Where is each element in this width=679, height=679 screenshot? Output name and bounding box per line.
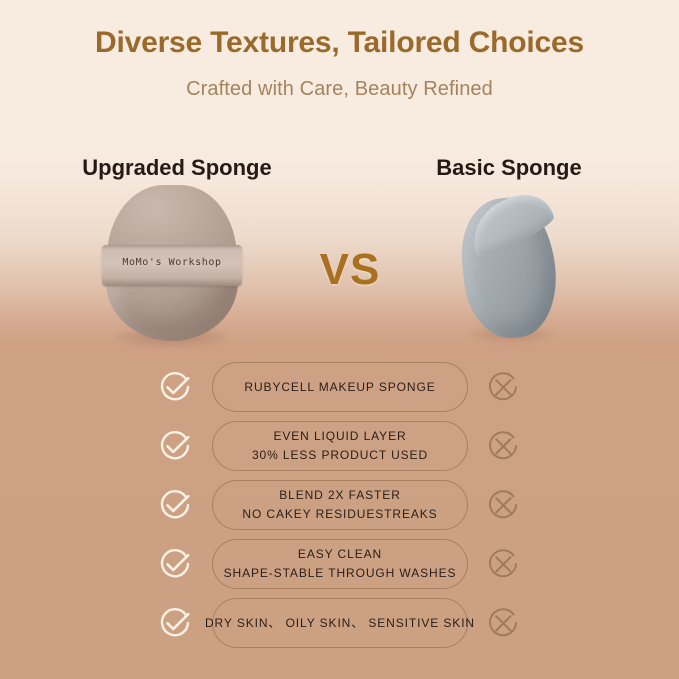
check-circle-icon (155, 485, 195, 525)
feature-line-1: EASY CLEAN (298, 545, 382, 564)
feature-pill: DRY SKIN、 OILY SKIN、 SENSITIVE SKIN (212, 598, 468, 648)
feature-line-2: NO CAKEY RESIDUESTREAKS (242, 505, 437, 524)
feature-pill: RUBYCELL MAKEUP SPONGE (212, 362, 468, 412)
feature-pill: BLEND 2X FASTER NO CAKEY RESIDUESTREAKS (212, 480, 468, 530)
feature-row: EVEN LIQUID LAYER 30% LESS PRODUCT USED (0, 421, 679, 471)
basic-sponge-body (456, 194, 562, 343)
comparison-poster: Diverse Textures, Tailored Choices Craft… (0, 0, 679, 679)
page-subtitle: Crafted with Care, Beauty Refined (0, 78, 679, 101)
cross-circle-icon (483, 485, 523, 525)
check-circle-icon (155, 603, 195, 643)
cross-circle-icon (483, 367, 523, 407)
cross-circle-icon (483, 603, 523, 643)
upgraded-sponge-image: MoMo's Workshop (98, 185, 246, 343)
check-circle-icon (155, 367, 195, 407)
feature-row: DRY SKIN、 OILY SKIN、 SENSITIVE SKIN (0, 598, 679, 648)
check-circle-icon (155, 544, 195, 584)
column-heading-basic: Basic Sponge (392, 155, 626, 181)
column-heading-upgraded: Upgraded Sponge (36, 155, 318, 181)
upgraded-sponge-band: MoMo's Workshop (102, 245, 242, 286)
brand-label: MoMo's Workshop (102, 257, 242, 268)
feature-row: RUBYCELL MAKEUP SPONGE (0, 362, 679, 412)
feature-row: EASY CLEAN SHAPE-STABLE THROUGH WASHES (0, 539, 679, 589)
feature-pill: EASY CLEAN SHAPE-STABLE THROUGH WASHES (212, 539, 468, 589)
feature-line-1: BLEND 2X FASTER (279, 486, 401, 505)
basic-sponge-image (455, 192, 567, 340)
feature-line-2: SHAPE-STABLE THROUGH WASHES (224, 564, 457, 583)
cross-circle-icon (483, 544, 523, 584)
versus-label: VS (295, 245, 405, 295)
feature-comparison-list: RUBYCELL MAKEUP SPONGE EVEN LIQUID LAYER (0, 362, 679, 657)
cross-circle-icon (483, 426, 523, 466)
feature-line-1: DRY SKIN、 OILY SKIN、 SENSITIVE SKIN (205, 614, 475, 633)
feature-line-1: RUBYCELL MAKEUP SPONGE (244, 378, 435, 397)
basic-sponge-bevel (464, 182, 556, 261)
feature-row: BLEND 2X FASTER NO CAKEY RESIDUESTREAKS (0, 480, 679, 530)
page-title: Diverse Textures, Tailored Choices (0, 26, 679, 60)
check-circle-icon (155, 426, 195, 466)
feature-pill: EVEN LIQUID LAYER 30% LESS PRODUCT USED (212, 421, 468, 471)
feature-line-2: 30% LESS PRODUCT USED (252, 446, 428, 465)
feature-line-1: EVEN LIQUID LAYER (273, 427, 406, 446)
